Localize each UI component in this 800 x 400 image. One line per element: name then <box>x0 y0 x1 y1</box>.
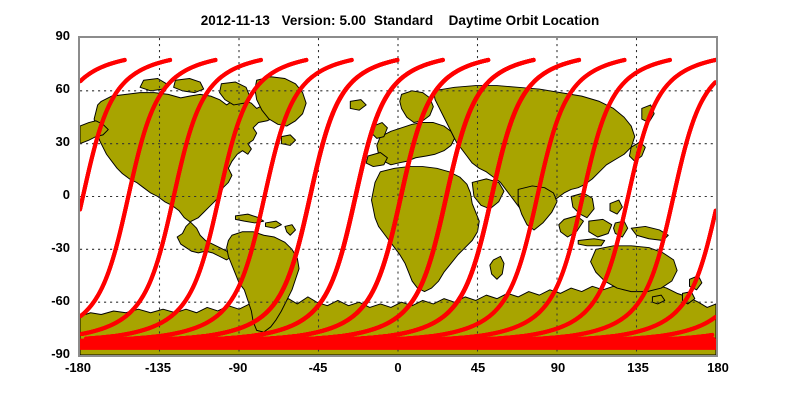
y-tick-label--90: -90 <box>30 346 70 361</box>
orbit-location-figure: 2012-11-13 Version: 5.00 Standard Daytim… <box>0 0 800 400</box>
y-tick-label--30: -30 <box>30 240 70 255</box>
x-tick-label-90: 90 <box>528 360 588 375</box>
x-tick-label-135: 135 <box>608 360 668 375</box>
y-tick-label--60: -60 <box>30 293 70 308</box>
map-plot-area <box>78 36 718 357</box>
plot-area-wrapper: 90 60 30 0 -30 -60 -90 -180 -135 -90 -45… <box>78 36 718 357</box>
y-tick-label-30: 30 <box>30 134 70 149</box>
figure-title: 2012-11-13 Version: 5.00 Standard Daytim… <box>0 13 800 28</box>
x-tick-label--135: -135 <box>128 360 188 375</box>
x-tick-label--90: -90 <box>208 360 268 375</box>
x-tick-label-0: 0 <box>368 360 428 375</box>
land-java <box>578 239 605 246</box>
world-map-with-orbit-tracks <box>80 38 716 355</box>
x-tick-label--180: -180 <box>48 360 108 375</box>
y-tick-label-90: 90 <box>30 28 70 43</box>
y-tick-label-0: 0 <box>30 187 70 202</box>
x-tick-label-180: 180 <box>688 360 748 375</box>
y-tick-label-60: 60 <box>30 81 70 96</box>
x-tick-label-45: 45 <box>448 360 508 375</box>
x-tick-label--45: -45 <box>288 360 348 375</box>
